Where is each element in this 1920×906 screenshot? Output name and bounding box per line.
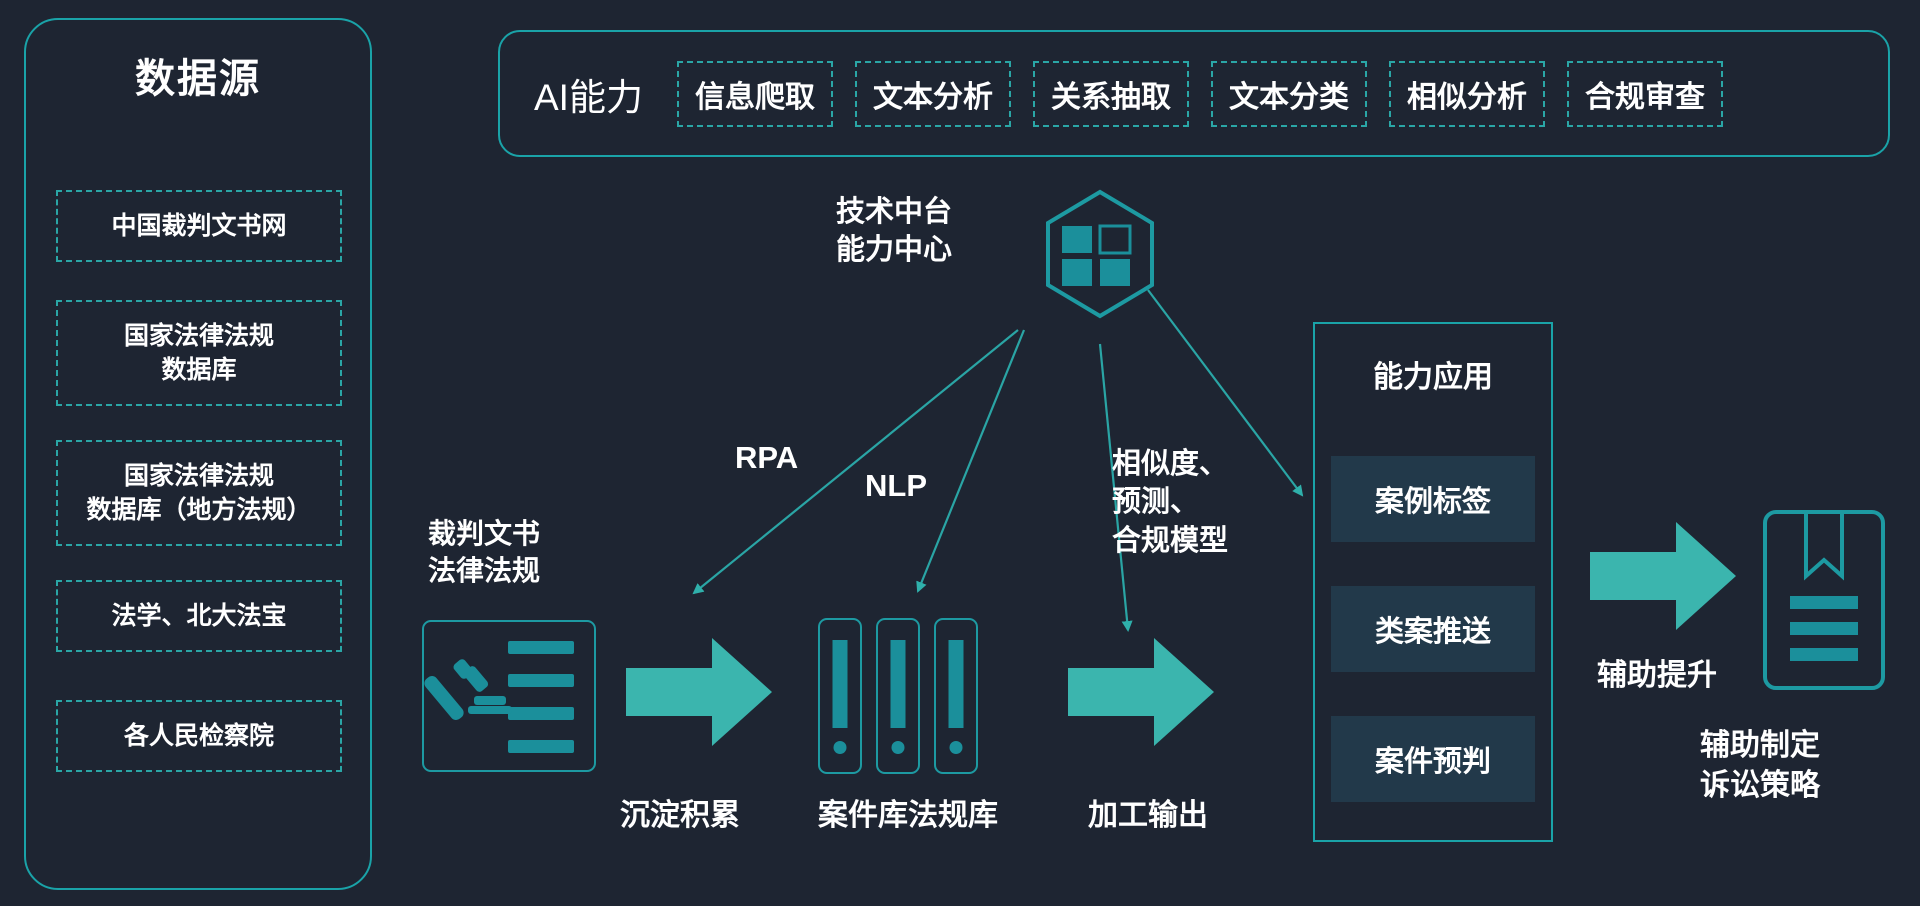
capability-card[interactable]: 案例标签 (1331, 456, 1535, 542)
data-source-item[interactable]: 国家法律法规数据库（地方法规） (56, 440, 342, 546)
data-source-item-label: 国家法律法规数据库（地方法规） (86, 459, 311, 528)
server-dot-icon (834, 741, 847, 754)
databases-caption: 案件库法规库 (818, 790, 998, 834)
capability-card[interactable]: 案件预判 (1331, 716, 1535, 802)
edge-label-nlp: NLP (865, 468, 927, 504)
tech-center-label: 技术中台 能力中心 (836, 194, 996, 269)
server-unit (818, 618, 862, 774)
data-source-item[interactable]: 中国裁判文书网 (56, 190, 342, 262)
documents-label-line1: 裁判文书 (428, 516, 598, 553)
documents-label: 裁判文书 法律法规 (428, 516, 598, 590)
documents-label-line2: 法律法规 (428, 553, 598, 590)
tech-center-label-line1: 技术中台 (836, 194, 996, 232)
final-caption-line1: 辅助制定 (1700, 726, 1820, 766)
server-bar-icon (949, 640, 964, 728)
diagram-canvas: 数据源 中国裁判文书网 国家法律法规数据库 国家法律法规数据库（地方法规） 法学… (0, 0, 1920, 906)
data-source-item[interactable]: 法学、北大法宝 (56, 580, 342, 652)
capability-card[interactable]: 类案推送 (1331, 586, 1535, 672)
final-caption-line2: 诉讼策略 (1700, 766, 1820, 806)
data-source-item-label: 法学、北大法宝 (111, 599, 286, 634)
documents-box[interactable] (422, 620, 596, 772)
data-source-item-label: 国家法律法规数据库 (124, 319, 274, 388)
ai-capability-chip[interactable]: 相似分析 (1389, 61, 1545, 127)
ai-capability-chip[interactable]: 信息爬取 (677, 61, 833, 127)
flow-arrow-1 (626, 638, 772, 746)
ai-capability-chip[interactable]: 合规审查 (1567, 61, 1723, 127)
server-dot-icon (950, 741, 963, 754)
data-source-item[interactable]: 国家法律法规数据库 (56, 300, 342, 406)
documents-caption: 沉淀积累 (620, 790, 740, 834)
data-source-title: 数据源 (24, 46, 372, 104)
server-dot-icon (892, 741, 905, 754)
server-bar-icon (833, 640, 848, 728)
data-source-item-label: 中国裁判文书网 (111, 209, 286, 244)
bookmark-document-icon (1765, 512, 1883, 688)
data-source-item[interactable]: 各人民检察院 (56, 700, 342, 772)
edge-nlp (918, 330, 1024, 591)
boost-caption: 辅助提升 (1597, 650, 1717, 694)
ai-capability-chip[interactable]: 文本分类 (1211, 61, 1367, 127)
hexagon-four-squares-icon (1048, 192, 1152, 316)
ai-capability-title: AI能力 (534, 67, 643, 121)
ai-capability-chip[interactable]: 关系抽取 (1033, 61, 1189, 127)
edge-label-similarity-line3: 合规模型 (1112, 522, 1228, 560)
edge-label-similarity: 相似度、 预测、 合规模型 (1112, 445, 1228, 560)
capability-panel-title: 能力应用 (1313, 352, 1553, 396)
edge-label-similarity-line2: 预测、 (1112, 483, 1228, 521)
server-bar-icon (891, 640, 906, 728)
ai-capability-chip[interactable]: 文本分析 (855, 61, 1011, 127)
final-caption: 辅助制定 诉讼策略 (1700, 726, 1820, 806)
flow-arrow-3 (1590, 522, 1736, 630)
ai-capability-chip-list: 信息爬取 文本分析 关系抽取 文本分类 相似分析 合规审查 (677, 61, 1723, 127)
edge-label-similarity-line1: 相似度、 (1112, 445, 1228, 483)
output-caption: 加工输出 (1088, 790, 1208, 834)
data-source-item-label: 各人民检察院 (124, 719, 274, 754)
server-unit (934, 618, 978, 774)
server-unit (876, 618, 920, 774)
ai-capability-bar: AI能力 信息爬取 文本分析 关系抽取 文本分类 相似分析 合规审查 (498, 30, 1890, 157)
tech-center-label-line2: 能力中心 (836, 232, 996, 270)
edge-label-rpa: RPA (735, 440, 798, 476)
flow-arrow-2 (1068, 638, 1214, 746)
database-servers[interactable] (818, 618, 978, 774)
